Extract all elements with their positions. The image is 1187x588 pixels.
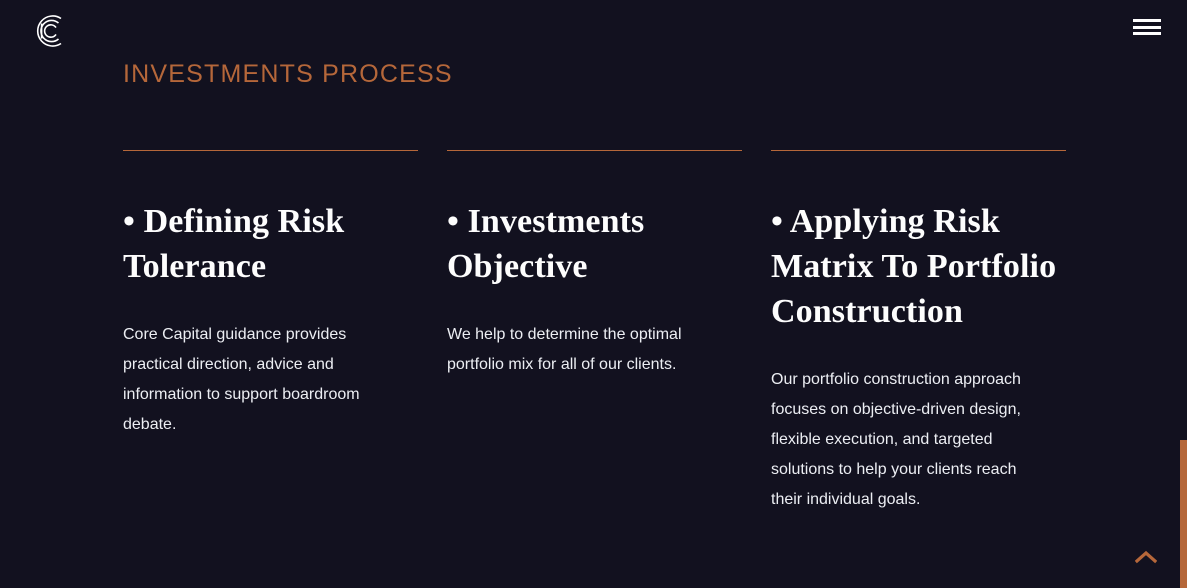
section-eyebrow-title: INVESTMENTS PROCESS: [123, 60, 453, 89]
hamburger-bar-1: [1133, 19, 1161, 22]
hamburger-bar-3: [1133, 32, 1161, 35]
process-column-3: • Applying Risk Matrix To Portfolio Cons…: [771, 150, 1066, 515]
column-body-text: Our portfolio construction approach focu…: [771, 365, 1033, 515]
column-divider-rule: [123, 150, 418, 151]
process-column-2: • Investments Objective We help to deter…: [447, 150, 742, 515]
column-divider-rule: [447, 150, 742, 151]
scroll-to-top-button[interactable]: [1133, 546, 1159, 568]
chevron-up-icon: [1135, 550, 1157, 564]
column-body-text: Core Capital guidance provides practical…: [123, 320, 385, 440]
page-scrollbar-track[interactable]: [1180, 0, 1187, 588]
column-heading: • Investments Objective: [447, 199, 742, 289]
core-capital-c-logo-icon: [30, 10, 72, 52]
page-scrollbar-thumb[interactable]: [1180, 440, 1187, 588]
investments-process-columns: • Defining Risk Tolerance Core Capital g…: [123, 150, 1065, 515]
site-header: [0, 0, 1187, 62]
hamburger-menu-icon[interactable]: [1133, 16, 1161, 38]
column-divider-rule: [771, 150, 1066, 151]
logo-link[interactable]: [30, 10, 72, 52]
column-heading: • Applying Risk Matrix To Portfolio Cons…: [771, 199, 1066, 334]
column-body-text: We help to determine the optimal portfol…: [447, 320, 709, 380]
hamburger-bar-2: [1133, 26, 1161, 29]
column-heading: • Defining Risk Tolerance: [123, 199, 418, 289]
process-column-1: • Defining Risk Tolerance Core Capital g…: [123, 150, 418, 515]
